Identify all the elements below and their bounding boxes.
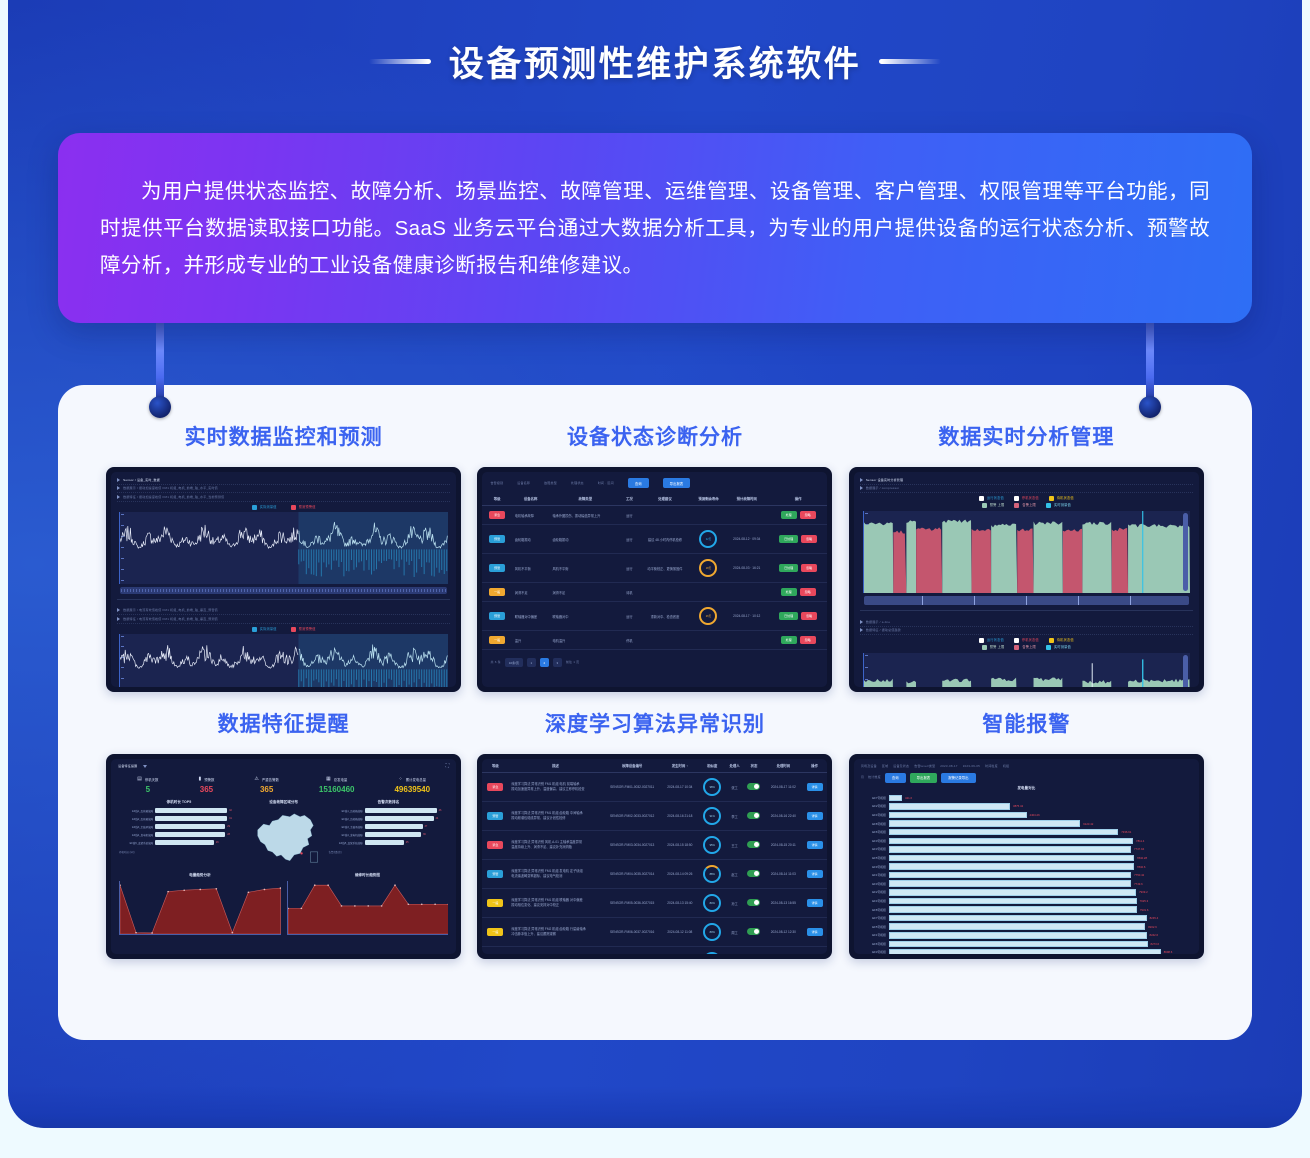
date-to-input[interactable]: 2023-09-05 — [963, 764, 980, 769]
bar-value: 37 — [425, 825, 428, 828]
export-report-button[interactable]: 导出报表 — [910, 773, 938, 783]
panel1-row-3-text: 数据展示 / 电流有效值峰值 FM1 机组_电机_前端_轴_垂直_预警值 — [123, 608, 218, 613]
rul-gauge: 26天 — [699, 607, 717, 625]
bar-fill — [889, 812, 1027, 819]
cell-condition: 运行 — [621, 525, 637, 554]
cell-similarity: 84% — [698, 889, 726, 918]
cell-rul: 18天 — [692, 554, 724, 583]
cell-handled-time: 2024-08-12 12:30 — [765, 918, 802, 947]
chart-right-title: 告警次数排名 — [329, 800, 449, 805]
bar-fill — [365, 816, 434, 821]
cell-status — [743, 773, 765, 802]
detail-button[interactable]: 详情 — [807, 812, 823, 820]
panel1-row-1[interactable]: 数据展示 / 振动加速度峰值 FM1 机组_电机_前端_轴_水平_实时值 — [117, 485, 450, 494]
area-left-plot — [119, 881, 281, 935]
pagination-total: 共 6 条 — [490, 660, 500, 665]
bar-row[interactable]: EF4号机组7925.3 — [860, 897, 1193, 906]
page-2-button[interactable]: 2 — [540, 658, 549, 667]
panel3-vertical-scrollbar[interactable] — [1183, 655, 1188, 687]
col-device: 设备名称 — [512, 492, 550, 506]
cell-description: 深度学习算法 异常识别 FM1 机组 齿轮箱 中间轴承振动频谱包络线异常、建议计… — [508, 802, 602, 831]
kpi-value: 365 — [254, 785, 278, 794]
filter-label-2[interactable]: 故障类型 — [544, 481, 557, 486]
panel1-header-2: 数据展示 / 电流有效值峰值 FM1 机组_电机_前端_轴_垂直_预警值 数据特… — [111, 603, 456, 624]
bar-fill — [155, 824, 225, 829]
col-level: 等级 — [482, 759, 508, 773]
bar-value: 26 — [216, 841, 219, 844]
cell-advice: 动平衡校正、更换紧固件 — [638, 554, 693, 583]
export-alarm-button[interactable]: 报警记录导出 — [941, 773, 975, 783]
bar-row[interactable]: EF1号机组7750.42 — [860, 871, 1193, 880]
cell-advice: 重新对中、检查底座 — [638, 602, 693, 631]
panel4-area-right[interactable]: 维修时长趋势图 — [287, 873, 449, 935]
bar-value: 25 — [406, 841, 409, 844]
filter-0[interactable]: 风场及设备 — [861, 764, 877, 769]
table-row[interactable]: 预警深度学习算法 异常识别 FM1 机组 齿轮箱 中间轴承振动频谱包络线异常、建… — [482, 802, 827, 831]
bar-category: EF5号机组 — [860, 925, 886, 929]
similarity-gauge: 95% — [703, 836, 721, 854]
cell-serial: SENSOR-FM06-0037-0027016 — [603, 918, 662, 947]
kpi-label: 停机天数 — [145, 777, 159, 782]
bar-fill — [889, 915, 1147, 922]
bar-row[interactable]: EF3号机组8698.6 — [860, 948, 1193, 954]
bar-category: EF9号机组 — [860, 865, 886, 869]
bar-fill — [889, 906, 1137, 913]
panel3-chart-bottom[interactable] — [863, 653, 1190, 687]
cell-handled-time: 2024-08-15 20:11 — [765, 831, 802, 860]
col-fault: 故障类型 — [549, 492, 621, 506]
fullscreen-icon[interactable]: ⛶ — [446, 763, 450, 769]
col-handled: 处理时间 — [765, 759, 802, 773]
bar-row[interactable]: EF7号机组8245.4 — [860, 914, 1193, 923]
rul-gauge: 18天 — [699, 559, 717, 577]
legend-row-2: 预警 上限 告警上限 实时测量值 — [982, 503, 1071, 508]
panel4-map[interactable]: 设备故障区域分布 — [243, 800, 325, 868]
cell-level: 一般 — [482, 918, 508, 947]
panel3-scrollbar-top[interactable] — [864, 596, 1189, 605]
kpi-label: 总发电量 — [334, 777, 348, 782]
status-badge: 一般 — [489, 588, 505, 596]
col-rul: 预测剩余寿命 — [692, 492, 724, 506]
status-badge: 紧急 — [489, 511, 505, 519]
status-badge: 紧急 — [487, 841, 503, 849]
chevron-right-icon — [117, 617, 120, 621]
bar-fill — [889, 872, 1131, 879]
table-header-row: 等级 设备名称 故障类型 工况 处理建议 预测剩余寿命 预计故障时间 操作 — [482, 492, 827, 506]
page-1-button[interactable]: 1 — [527, 658, 536, 667]
x-axis-label: 告警次数(次) — [329, 850, 342, 854]
bar-row: EF线1_齿轮箱故障46 — [329, 808, 449, 813]
pagination-goto[interactable]: 前往 1 页 — [566, 660, 580, 665]
legend-item-predicted: 预测预警值 — [291, 627, 316, 632]
cell-time: 2024-08-12 11:08 — [662, 918, 699, 947]
cell-handled-time: 2024-08-13 16:55 — [765, 889, 802, 918]
bar-row[interactable]: EF6号机组7336.61 — [860, 828, 1193, 837]
bar-fill — [365, 808, 437, 813]
col-sn: 故障设备编号 — [603, 759, 662, 773]
bar-fill — [155, 832, 225, 837]
cell-level: 紧急 — [482, 831, 508, 860]
kpi-label: 预警数 — [204, 777, 214, 782]
section-label-5: 深度学习算法异常识别 — [545, 708, 765, 738]
cell-level: 一般 — [482, 889, 508, 918]
panel3-header: Sensor 设备实时分析管理 数据展示 / compressor — [854, 472, 1199, 493]
status-toggle[interactable] — [747, 783, 760, 790]
bar-row: EF线4_发电机故障36 — [329, 832, 449, 837]
panel1-chart-bottom[interactable] — [119, 634, 448, 688]
status-toggle[interactable] — [747, 812, 760, 819]
panel3-vertical-scrollbar[interactable] — [1183, 513, 1188, 591]
bar-row[interactable]: EF0号机组7749.6 — [860, 879, 1193, 888]
cell-condition: 运行 — [621, 506, 637, 525]
screenshot-thumbnail-smart-alarm[interactable]: 风场及设备 区域 设备及状态 告警level/类型 2023-08-17 202… — [849, 754, 1204, 959]
gallery-cell-6: 智能报警 风场及设备 区域 设备及状态 告警level/类型 2023-08-1… — [841, 700, 1212, 959]
x-axis-label: 停机时长(小时) — [119, 850, 134, 854]
cell-fault: 润滑不足 — [549, 583, 621, 602]
legend-item-measured: 实际测量值 — [252, 505, 277, 510]
filter-3[interactable]: 告警level/类型 — [914, 764, 935, 769]
cell-serial: SENSOR-FM04-0035-0027014 — [603, 860, 662, 889]
table-row[interactable]: 预警深度学习算法 异常识别 FM1 机组 发电机 定子绕组电流谐波畸变率超标、建… — [482, 860, 827, 889]
cell-actions: 处理忽略 — [769, 631, 828, 650]
bar-value: 8273.6 — [1151, 942, 1160, 946]
bar-category: EF8号机组 — [860, 822, 886, 826]
col-status: 状态 — [743, 759, 765, 773]
filter-month[interactable]: 月 — [861, 775, 864, 780]
col-similarity: 相似度 — [698, 759, 726, 773]
status-badge: 一般 — [487, 928, 503, 936]
table-row[interactable]: 紧急深度学习算法 异常识别 风机 A-01 主轴承温度异常温度持续上升、润滑不足… — [482, 831, 827, 860]
cell-level: 预警 — [482, 860, 508, 889]
cell-handled-time: 2024-08-17 11:02 — [765, 773, 802, 802]
action-ignore-button[interactable]: 忽略 — [800, 588, 816, 596]
table-row[interactable]: 预警联轴器对中偏差联轴器对中运行重新对中、检查底座26天2024-08-17 ·… — [482, 602, 827, 631]
cell-rul — [692, 583, 724, 602]
panel1-row-2[interactable]: 数据特征 / 振动加速度峰值 FM1 机组_电机_前端_轴_水平_当前预测值 — [117, 493, 450, 502]
bar-category: EF6号机组 — [860, 942, 886, 946]
bar-fill — [365, 832, 421, 837]
waveform-svg — [120, 634, 448, 688]
page-size-select[interactable]: 10条/页 — [505, 658, 523, 667]
bar-value: 6123.42 — [1083, 822, 1093, 826]
legend-label: 告警上限 — [1022, 645, 1036, 650]
cell-description: 深度学习算法 异常识别 FM1 机组 联轴器 对中偏差振动相位变化、建议安排对中… — [508, 889, 602, 918]
bar-row[interactable]: EF4号机组4404.26 — [860, 811, 1193, 820]
bar-category: EF6号机组 — [860, 830, 886, 834]
kpi-card: ▦总发电量15160460 — [319, 776, 355, 794]
panel1-legend-bottom: 实际测量值 预测预警值 — [111, 624, 456, 634]
filter-dimension[interactable]: 统计维度 — [868, 775, 881, 780]
action-handle-button[interactable]: 处理 — [781, 511, 797, 519]
cell-level: 预警 — [482, 554, 511, 583]
map-title: 设备故障区域分布 — [269, 800, 298, 805]
legend-label: 实际测量值 — [260, 505, 277, 510]
export-button[interactable]: 导出报表 — [663, 478, 691, 488]
bar-row[interactable]: EF5号机组8202.6 — [860, 922, 1193, 931]
detail-button[interactable]: 详情 — [807, 899, 823, 907]
cell-rul: 26天 — [692, 602, 724, 631]
legend-item-measured: 实时测量值 — [1046, 503, 1071, 508]
table-row[interactable]: 一般温升电机温升停机处理忽略 — [482, 631, 827, 650]
legend-label: 停机状态值 — [1022, 496, 1039, 501]
detail-button[interactable]: 详情 — [807, 928, 823, 936]
panel1-chart-top[interactable] — [119, 512, 448, 584]
panel4-chart-left[interactable]: 停机时长 TOP5 EF线1_齿轮箱故障32EF线2_齿轮箱故障31EF线3_主… — [119, 800, 239, 868]
bar-value: 28 — [227, 833, 230, 836]
gallery-cell-1: 实时数据监控和预测 Sensor / 设备_实时_数据 数据展示 / 振动加速度… — [98, 413, 469, 692]
action-handle-button[interactable]: 已处理 — [779, 535, 798, 543]
table-row[interactable]: 预警风机不平衡风机不平衡运行动平衡校正、更换紧固件18天2024-08-03 ·… — [482, 554, 827, 583]
calendar-icon: ▤ — [137, 776, 142, 782]
chevron-right-icon — [117, 495, 120, 499]
status-badge: 预警 — [489, 535, 505, 543]
screenshot-grid: 实时数据监控和预测 Sensor / 设备_实时_数据 数据展示 / 振动加速度… — [58, 413, 1252, 959]
bar-row[interactable]: EF7号机组421.6 — [860, 794, 1193, 803]
legend-row-2: 预警 上限 告警上限 实时测量值 — [982, 645, 1071, 650]
bar-category: EF线2_齿轮箱故障 — [329, 817, 363, 821]
bar-row[interactable]: EF9号机组7840.6 — [860, 862, 1193, 871]
legend-swatch — [291, 505, 296, 510]
bar-value: 7747.94 — [1134, 847, 1144, 851]
filter-label-1[interactable]: 设备名称 — [517, 481, 530, 486]
divider — [117, 599, 450, 600]
filter-1[interactable]: 区域 — [882, 764, 888, 769]
filter-unit[interactable]: 机组 — [1003, 764, 1009, 769]
cell-level: 一般 — [482, 583, 511, 602]
panel1-scrollbar-top[interactable] — [120, 587, 447, 594]
table-row[interactable]: 预警深度学习算法 异常识别 风机 B-02 变桨系统间隙异常变桨反馈延迟、建议检… — [482, 947, 827, 955]
panel1-row-3[interactable]: 数据展示 / 电流有效值峰值 FM1 机组_电机_前端_轴_垂直_预警值 — [117, 607, 450, 616]
cell-eta: 2024-08-12 · 09:34 — [725, 525, 769, 554]
rul-gauge: 32天 — [699, 530, 717, 548]
legend-label: 告警上限 — [1022, 503, 1036, 508]
action-ignore-button[interactable]: 忽略 — [801, 612, 817, 620]
kpi-card: ▮预警数365 — [198, 776, 214, 794]
cell-description: 深度学习算法 异常识别 FM1 机组 发电机 定子绕组电流谐波畸变率超标、建议电… — [508, 860, 602, 889]
bar-value: 44 — [436, 817, 439, 820]
cell-time: 2024-08-11 08:22 — [662, 947, 699, 955]
table-row[interactable]: 紧急深度学习算法 异常识别 FM1 机组 电机 前端轴承振动加速度异常上升、温度… — [482, 773, 827, 802]
legend-item-idle: 待机状态值 — [1049, 496, 1074, 501]
cell-handled-time: 2024-08-11 09:45 — [765, 947, 802, 955]
panel4-chart-right[interactable]: 告警次数排名 EF线1_齿轮箱故障46EF线2_齿轮箱故障44EF线3_主轴承故… — [329, 800, 449, 868]
bar-row[interactable]: EF2号机组3875.42 — [860, 802, 1193, 811]
bar-row[interactable]: EF8号机组7931.6 — [860, 905, 1193, 914]
bar-value: 7749.6 — [1134, 882, 1143, 886]
bar-value: 7840.28 — [1137, 856, 1147, 860]
section-label-3: 数据实时分析管理 — [938, 421, 1114, 451]
cell-time: 2024-08-17 10:34 — [662, 773, 699, 802]
bar-fill — [155, 816, 227, 821]
date-from-input[interactable]: 2023-08-17 — [940, 764, 957, 769]
panel3-sub-3[interactable]: 数据特征 / 振动总值趋势 — [860, 627, 1193, 636]
screenshot-thumbnail-anomaly-table[interactable]: 等级 描述 故障设备编号 发生时间 ↑ 相似度 处理人 状态 处理时间 操作 紧… — [477, 754, 832, 959]
bar-fill — [889, 889, 1136, 896]
cell-person: 周工 — [726, 918, 743, 947]
panel3-legend-top: 运行状态值 停机状态值 待机状态值 预警 上限 告警上限 实时测量值 — [854, 493, 1199, 511]
connector-dot-bottom — [149, 396, 171, 418]
cell-actions: 详情 — [802, 860, 828, 889]
bar-fill — [889, 838, 1133, 845]
detail-button[interactable]: 详情 — [807, 783, 823, 791]
cell-status — [743, 947, 765, 955]
bar-fill — [889, 923, 1145, 930]
action-ignore-button[interactable]: 忽略 — [800, 636, 816, 644]
description-text: 为用户提供状态监控、故障分析、场景监控、故障管理、运维管理、设备管理、客户管理、… — [58, 173, 1252, 284]
table-row[interactable]: 一般深度学习算法 异常识别 FM2 机组 齿轮箱 行星级轴承冲击脉冲值上升、建议… — [482, 918, 827, 947]
action-handle-button[interactable]: 已处理 — [779, 564, 798, 572]
cell-rul: 32天 — [692, 525, 724, 554]
screenshot-thumbnail-realtime-analysis[interactable]: Sensor 设备实时分析管理 数据展示 / compressor 运行状态值 … — [849, 467, 1204, 692]
legend-item-predicted: 预测预警值 — [291, 505, 316, 510]
action-handle-button[interactable]: 处理 — [781, 636, 797, 644]
panel3-sub2-text: 数据展示 / a-line — [866, 620, 890, 625]
cell-eta — [725, 583, 769, 602]
col-desc: 描述 — [508, 759, 602, 773]
panel4-area-left[interactable]: 电量趋势分析 — [119, 873, 281, 935]
bar-category: EF线5_变桨系统故障 — [329, 841, 363, 845]
cell-similarity: 95% — [698, 831, 726, 860]
title-rule-left — [369, 59, 431, 64]
table-header-row: 等级 描述 故障设备编号 发生时间 ↑ 相似度 处理人 状态 处理时间 操作 — [482, 759, 827, 773]
cell-actions: 详情 — [802, 889, 828, 918]
cell-condition: 运行 — [621, 554, 637, 583]
panel6-bar-list[interactable]: EF7号机组421.6EF2号机组3875.42EF4号机组4404.26EF8… — [854, 794, 1199, 955]
bar-value: 8245.4 — [1150, 916, 1159, 920]
cell-time: 2024-08-14 09:26 — [662, 860, 699, 889]
screenshot-thumbnail-realtime-monitor[interactable]: Sensor / 设备_实时_数据 数据展示 / 振动加速度峰值 FM1 机组_… — [106, 467, 461, 692]
bar-fill — [889, 829, 1118, 836]
bar-row[interactable]: EF0号机组7811.4 — [860, 836, 1193, 845]
bar-value: 7811.4 — [1136, 839, 1144, 843]
table-row[interactable]: 预警齿轮箱振动齿轮箱振动运行建议 48 小时内停机检修32天2024-08-12… — [482, 525, 827, 554]
filter-label-3[interactable]: 处理状态 — [571, 481, 584, 486]
bar-fill — [365, 824, 423, 829]
filter-label-0[interactable]: 告警级别 — [490, 481, 503, 486]
connector-dot-bottom — [1139, 396, 1161, 418]
panel4-select-label[interactable]: 设备特征提醒 — [118, 764, 137, 769]
panel1-row-2-text: 数据特征 / 振动加速度峰值 FM1 机组_电机_前端_轴_水平_当前预测值 — [123, 495, 224, 500]
bar-category: EF线5_变桨系统故障 — [119, 841, 153, 845]
legend-item-alarm-upper: 告警上限 — [1014, 503, 1036, 508]
action-ignore-button[interactable]: 忽略 — [801, 564, 817, 572]
similarity-gauge: 91% — [703, 807, 721, 825]
table-row[interactable]: 紧急电机轴承故障轴承外圈损伤、振动幅值异常上升运行处理忽略 — [482, 506, 827, 525]
legend-item-stop: 停机状态值 — [1014, 496, 1039, 501]
chart-left-title: 停机时长 TOP5 — [119, 800, 239, 805]
panel3-header-2: 数据展示 / a-line 数据特征 / 振动总值趋势 — [854, 614, 1199, 635]
col-eta: 预计故障时间 — [725, 492, 769, 506]
filter-2[interactable]: 设备及状态 — [893, 764, 909, 769]
cell-advice — [638, 631, 693, 650]
status-toggle[interactable] — [747, 841, 760, 848]
bar-row[interactable]: EF8号机组6123.42 — [860, 819, 1193, 828]
panel4-kpi-row: ▤停机天数5▮预警数365⚠严重告警数365▦总发电量15160460⁘累计发电… — [111, 773, 456, 796]
screenshot-thumbnail-diagnosis-table[interactable]: 告警级别 设备名称 故障类型 处理状态 时间 · 区间 查询 导出报表 等级 设… — [477, 467, 832, 692]
bar-row[interactable]: EF1号机组8242.6 — [860, 931, 1193, 940]
page-title: 设备预测性维护系统软件 — [449, 36, 862, 87]
bar-row[interactable]: EF5号机组7840.28 — [860, 854, 1193, 863]
panel3-sub3-text: 数据特征 / 振动总值趋势 — [866, 628, 901, 633]
filter-granularity[interactable]: 时间粒度 — [985, 764, 998, 769]
bar-row: EF线3_主轴承故障37 — [329, 824, 449, 829]
filter-label-4[interactable]: 时间 · 区间 — [598, 481, 614, 486]
panel1-row-4[interactable]: 数据特征 / 电流有效值峰值 FM1 机组_电机_前端_轴_垂直_预测值 — [117, 615, 450, 624]
bar-category: EF1号机组 — [860, 873, 886, 877]
chevron-right-icon — [117, 486, 120, 490]
bar-category: EF1号机组 — [860, 933, 886, 937]
similarity-gauge: 88% — [703, 865, 721, 883]
col-time[interactable]: 发生时间 ↑ — [662, 759, 699, 773]
query-button[interactable]: 查询 — [885, 773, 906, 783]
section-label-1: 实时数据监控和预测 — [185, 421, 383, 451]
detail-button[interactable]: 详情 — [807, 841, 823, 849]
bar-value: 7840.6 — [1137, 865, 1146, 869]
cell-level: 预警 — [482, 602, 511, 631]
query-button[interactable]: 查询 — [628, 478, 649, 488]
bar-row[interactable]: EF3号机组7747.94 — [860, 845, 1193, 854]
col-actions: 操作 — [769, 492, 828, 506]
table-row[interactable]: 一般润滑不足润滑不足待机处理忽略 — [482, 583, 827, 602]
kpi-card: ⚠严重告警数365 — [254, 776, 278, 794]
chevron-down-icon[interactable] — [143, 765, 147, 768]
cell-similarity: 98% — [698, 773, 726, 802]
detail-button[interactable]: 详情 — [807, 870, 823, 878]
status-toggle[interactable] — [747, 870, 760, 877]
bar-row[interactable]: EF6号机组8273.6 — [860, 940, 1193, 949]
cell-advice — [638, 583, 693, 602]
panel3-sub-2[interactable]: 数据展示 / a-line — [860, 618, 1193, 627]
panel2-toolbar: 告警级别 设备名称 故障类型 处理状态 时间 · 区间 查询 导出报表 — [482, 472, 827, 492]
action-handle-button[interactable]: 处理 — [781, 588, 797, 596]
area-svg-bottom — [864, 653, 1190, 687]
action-ignore-button[interactable]: 忽略 — [801, 535, 817, 543]
similarity-gauge: 86% — [703, 952, 721, 954]
bar-value: 7909.2 — [1139, 890, 1148, 894]
action-handle-button[interactable]: 已处理 — [779, 612, 798, 620]
gallery-cell-2: 设备状态诊断分析 告警级别 设备名称 故障类型 处理状态 时间 · 区间 查询 … — [469, 413, 840, 692]
cell-serial: SENSOR-FM05-0036-0027015 — [603, 889, 662, 918]
status-toggle[interactable] — [747, 928, 760, 935]
bar-category: EF4号机组 — [860, 899, 886, 903]
panel1-row-1-text: 数据展示 / 振动加速度峰值 FM1 机组_电机_前端_轴_水平_实时值 — [123, 486, 218, 491]
cell-actions: 处理忽略 — [769, 583, 828, 602]
action-ignore-button[interactable]: 忽略 — [800, 511, 816, 519]
area-right-plot — [287, 881, 449, 935]
bar-row[interactable]: EF2号机组7909.2 — [860, 888, 1193, 897]
cell-device: 润滑不足 — [512, 583, 550, 602]
table-body: 紧急电机轴承故障轴承外圈损伤、振动幅值异常上升运行处理忽略预警齿轮箱振动齿轮箱振… — [482, 506, 827, 650]
legend-label: 实时测量值 — [1054, 503, 1071, 508]
page-3-button[interactable]: 3 — [553, 658, 562, 667]
bar-category: EF0号机组 — [860, 839, 886, 843]
bar-row: EF线2_齿轮箱故障31 — [119, 816, 239, 821]
cell-person: 吴工 — [726, 947, 743, 955]
cell-handled-time: 2024-08-14 11:03 — [765, 860, 802, 889]
status-toggle[interactable] — [747, 899, 760, 906]
panel2-pagination: 共 6 条 10条/页 1 2 3 前往 1 页 — [482, 650, 827, 675]
panel1-row-4-text: 数据特征 / 电流有效值峰值 FM1 机组_电机_前端_轴_垂直_预测值 — [123, 617, 218, 622]
panel3-sub-1[interactable]: 数据展示 / compressor — [860, 485, 1193, 494]
table-row[interactable]: 一般深度学习算法 异常识别 FM1 机组 联轴器 对中偏差振动相位变化、建议安排… — [482, 889, 827, 918]
screenshot-thumbnail-feature-dashboard[interactable]: 设备特征提醒 ⛶ ▤停机天数5▮预警数365⚠严重告警数365▦总发电量1516… — [106, 754, 461, 959]
cell-status — [743, 831, 765, 860]
kpi-value: 49639540 — [394, 785, 430, 794]
bar-category: EF4号机组 — [860, 813, 886, 817]
area-svg-top — [864, 511, 1190, 593]
panel3-chart-top[interactable] — [863, 511, 1190, 593]
panel3-legend-bottom: 运行状态值 停机状态值 待机状态值 预警 上限 告警上限 实时测量值 — [854, 635, 1199, 653]
